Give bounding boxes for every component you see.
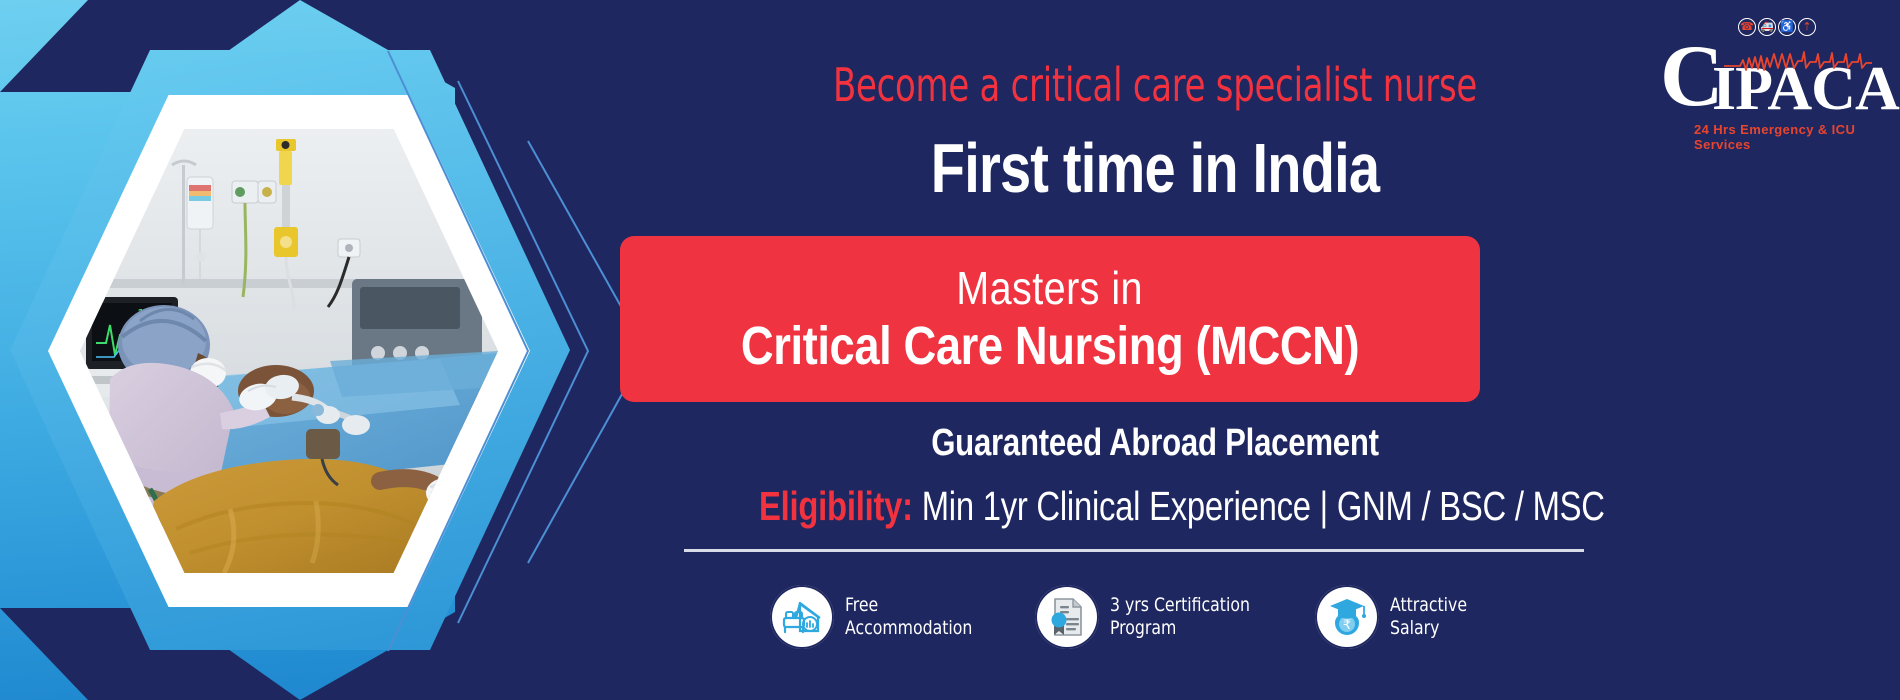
program-line-2: Critical Care Nursing (MCCN) — [741, 319, 1359, 373]
feature-line-1: Attractive — [1390, 594, 1467, 616]
ambulance-icon: 🚑 — [1758, 18, 1776, 36]
feature-line-1: Free — [845, 594, 878, 616]
program-badge: Masters in Critical Care Nursing (MCCN) — [620, 236, 1480, 402]
bed-house-icon — [770, 585, 834, 649]
logo-wordmark: C IPACA — [1654, 38, 1874, 114]
feature-item-certification: 3 yrs Certification Program — [1035, 585, 1262, 649]
wheelchair-icon: ♿ — [1778, 18, 1796, 36]
feature-item-accommodation: Free Accommodation — [770, 585, 983, 649]
chevron-outlines — [380, 45, 660, 660]
feature-line-2: Accommodation — [845, 617, 972, 639]
feature-item-salary: ₹ Attractive Salary — [1315, 585, 1474, 649]
svg-text:₹: ₹ — [1342, 618, 1350, 633]
logo-tagline: 24 Hrs Emergency & ICU Services — [1694, 122, 1874, 152]
iv-drip-icon: ⇡ — [1798, 18, 1816, 36]
page-title: First time in India — [759, 128, 1551, 208]
kicker-text: Become a critical care specialist nurse — [749, 58, 1561, 112]
feature-label-certification: 3 yrs Certification Program — [1110, 594, 1250, 640]
ecg-waveform-icon — [1724, 48, 1872, 74]
left-artwork: 107 98 — [0, 0, 660, 700]
promo-banner: 107 98 — [0, 0, 1900, 700]
feature-label-salary: Attractive Salary — [1390, 594, 1467, 640]
graduation-money-bag-icon: ₹ — [1315, 585, 1379, 649]
feature-line-2: Program — [1110, 617, 1176, 639]
program-line-1: Masters in — [957, 265, 1144, 311]
guarantee-text: Guaranteed Abroad Placement — [749, 422, 1561, 465]
feature-line-1: 3 yrs Certification — [1110, 594, 1250, 616]
cipaca-logo[interactable]: ☎ 🚑 ♿ ⇡ C IPACA 24 Hrs Emergency & ICU S… — [1654, 18, 1874, 148]
feature-list: Free Accommodation — [770, 572, 1560, 662]
logo-service-badges: ☎ 🚑 ♿ ⇡ — [1738, 18, 1874, 36]
certificate-document-icon — [1035, 585, 1099, 649]
eligibility-line: Eligibility: Min 1yr Clinical Experience… — [759, 483, 1551, 530]
eligibility-label: Eligibility: — [759, 483, 913, 529]
feature-line-2: Salary — [1390, 617, 1439, 639]
divider — [684, 549, 1584, 552]
eligibility-value: Min 1yr Clinical Experience | GNM / BSC … — [922, 483, 1605, 529]
feature-label-accommodation: Free Accommodation — [845, 594, 972, 640]
phone-icon: ☎ — [1738, 18, 1756, 36]
